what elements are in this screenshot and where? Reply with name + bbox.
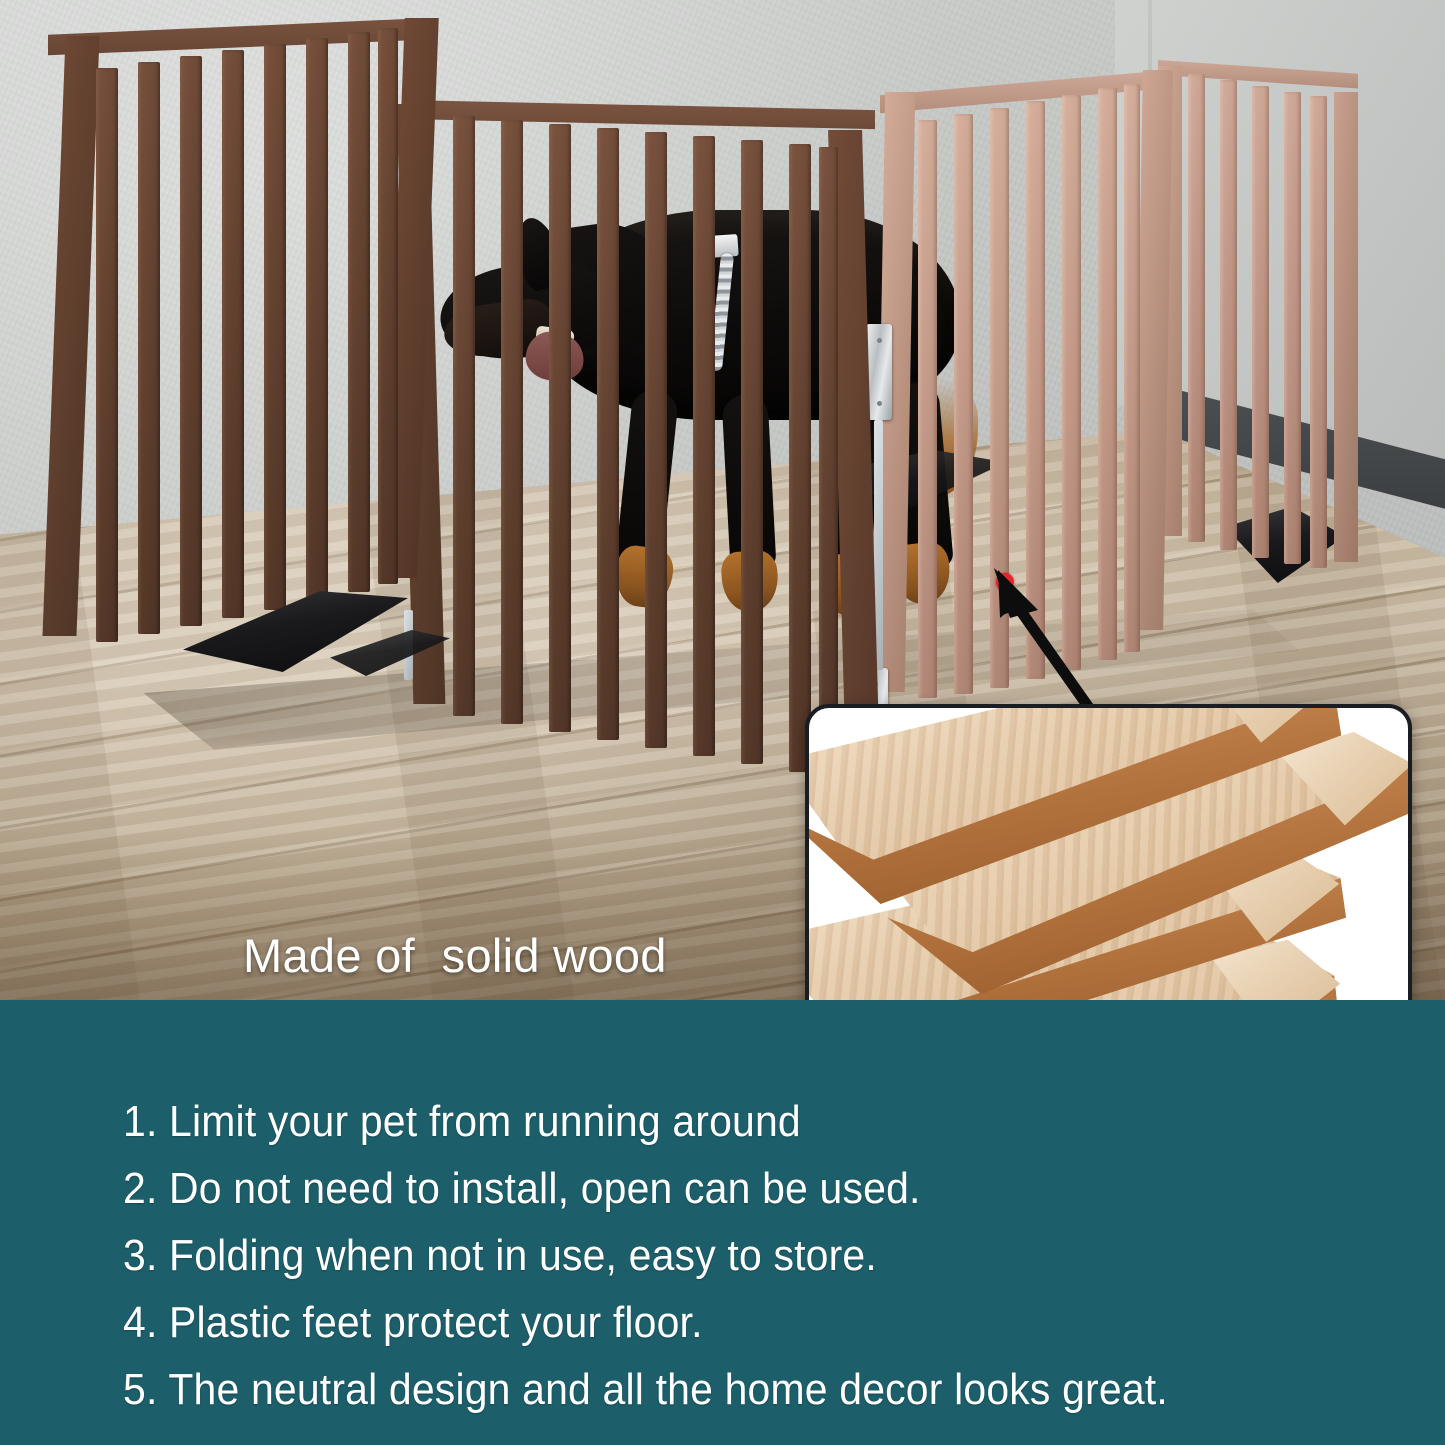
- gate-slat: [96, 68, 118, 642]
- gate-slat: [306, 38, 328, 602]
- panel-right-post: [1334, 92, 1358, 562]
- feature-bullet-4: 4. Plastic feet protect your floor.: [123, 1301, 1276, 1345]
- gate-slat: [597, 128, 619, 740]
- gate-slat: [1124, 84, 1140, 652]
- gate-slat: [954, 114, 973, 694]
- gate-panel-4: [1158, 60, 1358, 580]
- gate-slat: [789, 144, 811, 772]
- gate-slat: [1252, 86, 1269, 558]
- gate-slat: [222, 50, 244, 618]
- panel-left-post: [42, 36, 99, 636]
- gate-slat: [453, 116, 475, 716]
- gate-slat: [264, 44, 286, 610]
- feature-bullet-3: 3. Folding when not in use, easy to stor…: [123, 1234, 1276, 1278]
- feature-bullet-1: 1. Limit your pet from running around: [123, 1100, 1276, 1144]
- gate-slat: [1284, 92, 1301, 564]
- gate-slat: [180, 56, 202, 626]
- gate-slat: [1188, 74, 1205, 542]
- gate-slat: [1220, 80, 1237, 550]
- feature-bullet-2: 2. Do not need to install, open can be u…: [123, 1167, 1276, 1211]
- gate-slat: [501, 120, 523, 724]
- gate-slat: [693, 136, 715, 756]
- gate-slat: [549, 124, 571, 732]
- gate-panel-2: [405, 100, 875, 800]
- gate-slat: [348, 32, 370, 592]
- gate-slat: [645, 132, 667, 748]
- gate-slat: [918, 120, 937, 698]
- features-list: 1. Limit your pet from running around 2.…: [123, 1100, 1363, 1435]
- gate-slat: [378, 28, 398, 584]
- gate-slat: [819, 147, 838, 777]
- gate-slat: [1098, 88, 1117, 660]
- caption-made-of-solid-wood: Made of solid wood: [243, 928, 667, 983]
- feature-bullet-5: 5. The neutral design and all the home d…: [123, 1368, 1276, 1412]
- gate-slat: [1310, 96, 1327, 568]
- gate-slat: [138, 62, 160, 634]
- product-feature-image: Made of solid wood 1. L: [0, 0, 1445, 1445]
- gate-slat: [741, 140, 763, 764]
- callout-arrow-icon: [980, 560, 1100, 720]
